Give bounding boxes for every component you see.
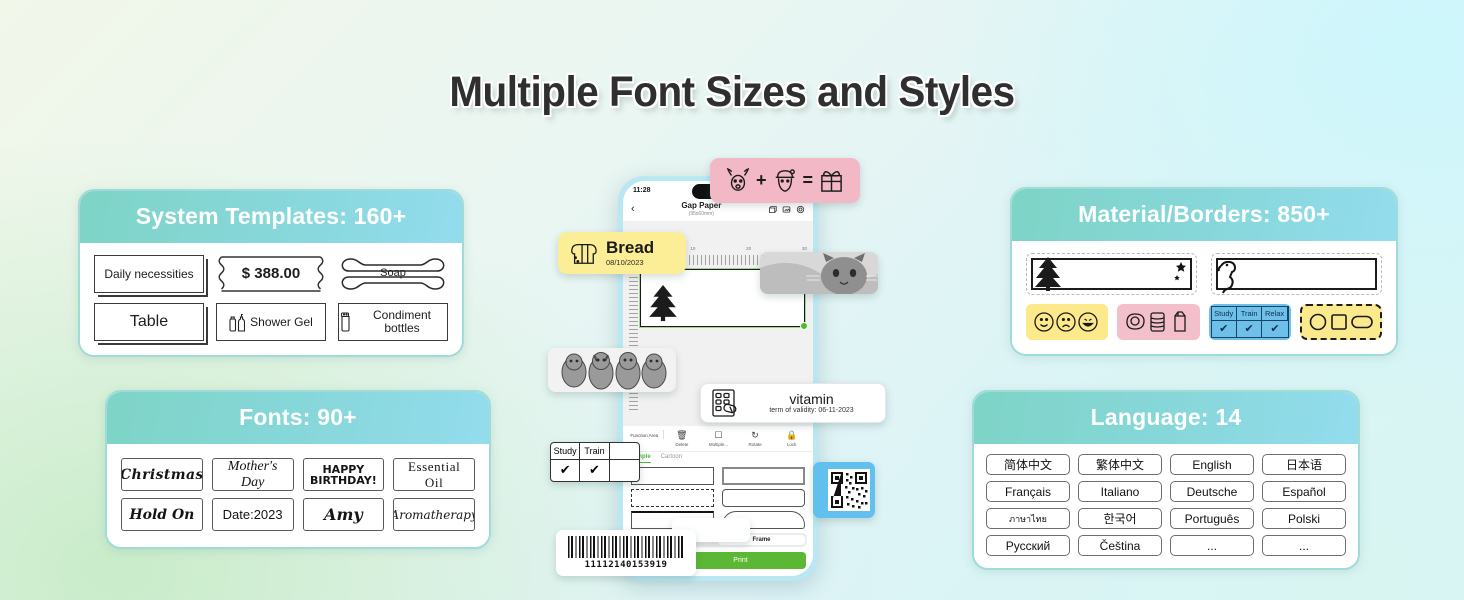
tab-cartoon[interactable]: Cartoon: [661, 454, 682, 463]
tool-lock[interactable]: 🔒 Lock: [773, 430, 810, 448]
template-item-daily-necessities[interactable]: Daily necessities: [94, 255, 204, 293]
tool-rotate[interactable]: ↻ Rotate: [737, 430, 774, 448]
font-sample-label: Aromatherapy: [393, 508, 475, 522]
bottle-icon: [229, 312, 245, 332]
bread-label[interactable]: Bread 08/10/2023: [558, 232, 686, 274]
frame-option-thick[interactable]: [722, 467, 805, 485]
poster-stage: Multiple Font Sizes and Styles System Te…: [0, 0, 1464, 600]
tool-label: Delete: [675, 442, 688, 447]
tile-food[interactable]: [1117, 304, 1199, 340]
vitamin-subtitle: term of validity: 06-11-2023: [748, 407, 875, 414]
template-label: Table: [130, 314, 168, 331]
panel-fonts-body: Christmas Mother's Day HAPPY BIRTHDAY! E…: [107, 444, 489, 547]
frame-option-dashed[interactable]: [631, 489, 714, 507]
checklist-header-cell: Relax: [1262, 307, 1287, 320]
gift-icon: [819, 167, 844, 194]
bread-text-block: Bread 08/10/2023: [606, 239, 654, 267]
trash-icon: 🗑: [664, 430, 701, 441]
multiple-select-icon: ☐: [700, 430, 737, 441]
checklist-header-cell: Study: [1212, 307, 1237, 320]
tool-multiple-select[interactable]: ☐ Multiple...: [700, 430, 737, 448]
tool-function-area[interactable]: Function Area: [626, 430, 664, 439]
template-label: $ 388.00: [242, 266, 300, 282]
font-sample-label: Hold On: [129, 507, 194, 523]
vitamin-title: vitamin: [748, 392, 875, 407]
barcode-icon: [568, 536, 684, 558]
panel-material-borders-body: Study Train Relax ✔ ✔ ✔: [1012, 241, 1396, 354]
checklist-header-cell: Train: [1237, 307, 1262, 320]
qr-code-icon: [828, 469, 870, 511]
animals-photo-label[interactable]: [548, 348, 676, 392]
template-label: Condiment bottles: [357, 309, 447, 334]
checklist-table: Study Train Relax ✔ ✔ ✔: [1211, 306, 1289, 338]
font-sample-label: Mother's Day: [216, 459, 290, 491]
bread-date: 08/10/2023: [606, 258, 654, 267]
language-item-korean[interactable]: 한국어: [1078, 508, 1162, 529]
language-item-portuguese[interactable]: Português: [1170, 508, 1254, 529]
panel-fonts: Fonts: 90+ Christmas Mother's Day HAPPY …: [105, 390, 491, 549]
image-icon[interactable]: [782, 205, 791, 214]
style-tabs: Simple Cartoon: [623, 451, 813, 463]
font-grid: Christmas Mother's Day HAPPY BIRTHDAY! E…: [121, 458, 475, 531]
bread-title: Bread: [606, 239, 654, 256]
dog-icon: [1215, 257, 1251, 297]
stars-icon: [1172, 261, 1188, 283]
barcode-number: 11112140153919: [585, 560, 668, 570]
lock-icon: 🔒: [773, 430, 810, 441]
font-sample-christmas[interactable]: Christmas: [121, 458, 203, 491]
reindeer-icon: [726, 168, 750, 194]
language-item-japanese[interactable]: 日本语: [1262, 454, 1346, 475]
template-item-price[interactable]: $ 388.00: [216, 255, 326, 293]
font-sample-label: HAPPY BIRTHDAY!: [307, 464, 381, 486]
cat-photo-label[interactable]: [760, 252, 878, 294]
frame-option-rounded[interactable]: [722, 489, 805, 507]
template-item-soap[interactable]: Soap: [338, 255, 448, 293]
font-sample-label: Amy: [324, 505, 363, 524]
font-sample-date[interactable]: Date:2023: [212, 498, 294, 531]
font-sample-happy-birthday[interactable]: HAPPY BIRTHDAY!: [303, 458, 385, 491]
vitamin-text-block: vitamin term of validity: 06-11-2023: [748, 392, 875, 414]
font-sample-amy[interactable]: Amy: [303, 498, 385, 531]
page-title: Multiple Font Sizes and Styles: [44, 68, 1420, 117]
food-icons: [1123, 309, 1193, 335]
font-sample-label: Essential Oil: [397, 459, 471, 491]
study-mark-cell: ✔: [551, 459, 580, 482]
font-sample-label: Date:2023: [223, 507, 283, 522]
border-frame-christmas-tree[interactable]: [1026, 253, 1197, 295]
resize-handle[interactable]: [800, 322, 808, 330]
language-item-italian[interactable]: Italiano: [1078, 481, 1162, 502]
template-label: Daily necessities: [104, 268, 193, 281]
study-header-cell: Train: [580, 443, 609, 459]
tile-checklist[interactable]: Study Train Relax ✔ ✔ ✔: [1209, 304, 1291, 340]
language-item-spanish[interactable]: Español: [1262, 481, 1346, 502]
shaker-icon: [339, 312, 352, 332]
tool-label: Function Area: [630, 433, 658, 438]
tool-row: Function Area 🗑 Delete ☐ Multiple... ↻ R…: [623, 426, 813, 451]
gear-icon[interactable]: [796, 205, 805, 214]
panel-system-templates-heading: System Templates: 160+: [80, 191, 462, 243]
equals-sign: =: [803, 170, 814, 191]
rotate-icon: ↻: [737, 430, 774, 441]
language-item-czech[interactable]: Čeština: [1078, 535, 1162, 556]
status-time: 11:28: [633, 187, 651, 194]
study-mark-cell-partial: [610, 459, 639, 482]
barcode-label[interactable]: 11112140153919: [556, 530, 696, 576]
shape-icons: [1308, 312, 1374, 332]
study-checklist-label[interactable]: Study Train ✔ ✔: [550, 442, 640, 482]
template-item-shower-gel[interactable]: Shower Gel: [216, 303, 326, 341]
font-sample-essential-oil[interactable]: Essential Oil: [393, 458, 475, 491]
santa-icon: [773, 168, 797, 194]
language-item-english[interactable]: English: [1170, 454, 1254, 475]
frame-option-solid[interactable]: [631, 467, 714, 485]
frame-inner: [1216, 258, 1377, 290]
cube-icon[interactable]: [768, 205, 777, 214]
ruler-tick: 10: [690, 246, 695, 254]
language-item-german[interactable]: Deutsche: [1170, 481, 1254, 502]
study-header-cell: Study: [551, 443, 580, 459]
language-item-thai[interactable]: ภาษาไทย: [986, 508, 1070, 529]
tool-label: Rotate: [748, 442, 761, 447]
template-item-table[interactable]: Table: [94, 303, 204, 341]
template-label: Soap: [380, 268, 406, 280]
qr-code-label[interactable]: [813, 462, 875, 518]
header-actions: [768, 205, 805, 214]
app-header-titles: Gap Paper (95x60mm): [635, 201, 768, 217]
font-sample-hold-on[interactable]: Hold On: [121, 498, 203, 531]
christmas-equation-sticker[interactable]: + =: [710, 158, 860, 203]
panel-fonts-heading: Fonts: 90+: [107, 392, 489, 444]
language-item-more-1[interactable]: ...: [1170, 535, 1254, 556]
panel-language-body: 简体中文 繁体中文 English 日本语 Français Italiano …: [974, 444, 1358, 568]
frame-inner: [1031, 258, 1192, 290]
template-grid: Daily necessities $ 388.00 Soap Table: [94, 255, 448, 341]
tree-icon: [645, 280, 681, 324]
tile-shapes[interactable]: [1300, 304, 1382, 340]
checklist-mark-cell: ✔: [1237, 320, 1262, 338]
panel-language: Language: 14 简体中文 繁体中文 English 日本语 Franç…: [972, 390, 1360, 570]
tile-emoji[interactable]: [1026, 304, 1108, 340]
panel-material-borders: Material/Borders: 850+: [1010, 187, 1398, 356]
border-frames-row: [1026, 253, 1382, 295]
panel-material-borders-heading: Material/Borders: 850+: [1012, 189, 1396, 241]
border-tiles-row: Study Train Relax ✔ ✔ ✔: [1026, 304, 1382, 340]
vitamin-label[interactable]: vitamin term of validity: 06-11-2023: [700, 383, 886, 423]
template-label: Shower Gel: [250, 316, 313, 329]
ruler-tick: 20: [746, 246, 751, 254]
language-item-zh-hant[interactable]: 繁体中文: [1078, 454, 1162, 475]
cat-photo: [760, 252, 878, 294]
template-item-condiment-bottles[interactable]: Condiment bottles: [338, 303, 448, 341]
study-mark-cell: ✔: [580, 459, 609, 482]
checklist-mark-cell: ✔: [1212, 320, 1237, 338]
study-header-cell-partial: [610, 443, 639, 459]
tool-delete[interactable]: 🗑 Delete: [664, 430, 701, 448]
panel-system-templates-body: Daily necessities $ 388.00 Soap Table: [80, 243, 462, 355]
bread-icon: [567, 239, 599, 267]
language-item-zh-hans[interactable]: 简体中文: [986, 454, 1070, 475]
animals-photo: [548, 348, 676, 392]
plus-sign: +: [756, 170, 767, 191]
smiley-icons: [1033, 310, 1101, 334]
tool-label: Lock: [787, 442, 797, 447]
font-sample-mothers-day[interactable]: Mother's Day: [212, 458, 294, 491]
font-sample-label: Christmas: [121, 467, 203, 483]
checklist-mark-cell: ✔: [1262, 320, 1287, 338]
language-item-russian[interactable]: Русский: [986, 535, 1070, 556]
pill-pack-icon: [711, 388, 739, 418]
language-grid: 简体中文 繁体中文 English 日本语 Français Italiano …: [986, 454, 1346, 556]
tool-label: Multiple...: [709, 442, 728, 447]
font-sample-aromatherapy[interactable]: Aromatherapy: [393, 498, 475, 531]
panel-system-templates: System Templates: 160+ Daily necessities…: [78, 189, 464, 357]
app-subtitle: (95x60mm): [635, 211, 768, 217]
language-item-polish[interactable]: Polski: [1262, 508, 1346, 529]
language-item-more-2[interactable]: ...: [1262, 535, 1346, 556]
tree-icon: [1031, 254, 1065, 292]
border-frame-dog[interactable]: [1211, 253, 1382, 295]
language-item-french[interactable]: Français: [986, 481, 1070, 502]
panel-language-heading: Language: 14: [974, 392, 1358, 444]
